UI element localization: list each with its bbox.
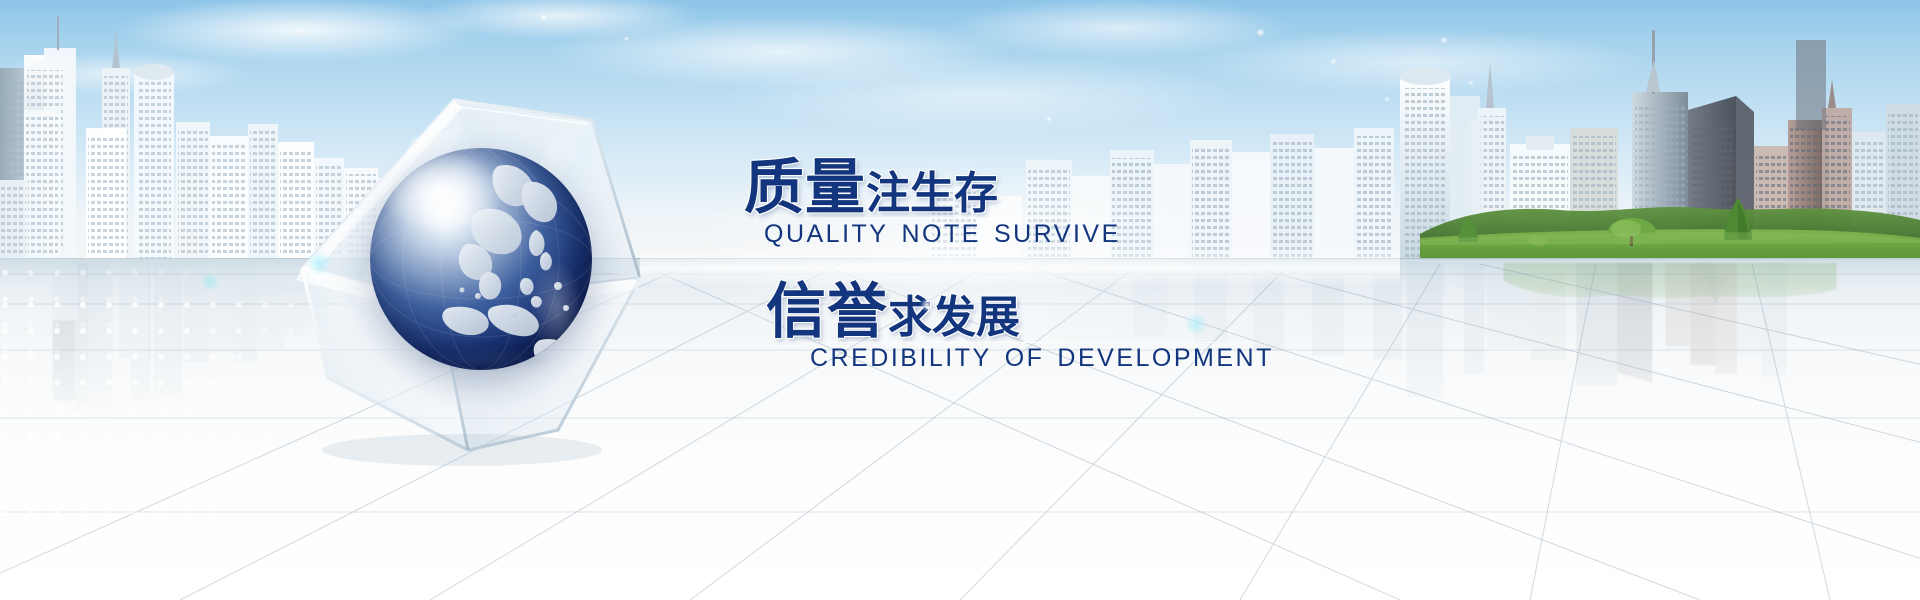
headline-quality-secondary: 注生存 — [866, 169, 998, 218]
green-lawn-with-trees — [1420, 176, 1920, 260]
headline-credibility-secondary: 求发展 — [888, 293, 1020, 342]
subline-quality: QUALITYNOTESURVIVE — [764, 220, 1121, 249]
headline-quality: 质量注生存 — [744, 158, 998, 218]
subline-credibility-w2: OF — [1005, 344, 1045, 372]
divider-credibility — [796, 342, 1276, 343]
subline-quality-w3: SURVIVE — [994, 220, 1121, 248]
blue-earth-globe — [370, 148, 592, 370]
globe-continents — [370, 148, 592, 370]
subline-credibility-w3: DEVELOPMENT — [1057, 344, 1273, 372]
globe-shadow — [388, 344, 578, 374]
subline-quality-w1: QUALITY — [764, 220, 888, 248]
headline-credibility-primary: 信誉 — [766, 278, 888, 345]
subline-credibility-w1: CREDIBILITY — [810, 344, 992, 372]
sparkle-1 — [540, 14, 547, 21]
subline-credibility: CREDIBILITYOFDEVELOPMENT — [810, 344, 1274, 373]
divider-quality — [768, 218, 1218, 219]
headline-credibility: 信誉求发展 — [766, 282, 1020, 342]
hero-banner: 质量注生存 QUALITYNOTESURVIVE 信誉求发展 CREDIBILI… — [0, 0, 1920, 600]
headline-quality-primary: 质量 — [744, 154, 866, 221]
subline-quality-w2: NOTE — [901, 220, 980, 248]
sparkle-2 — [624, 36, 629, 41]
diamond-dot-pattern-upper — [0, 268, 240, 388]
